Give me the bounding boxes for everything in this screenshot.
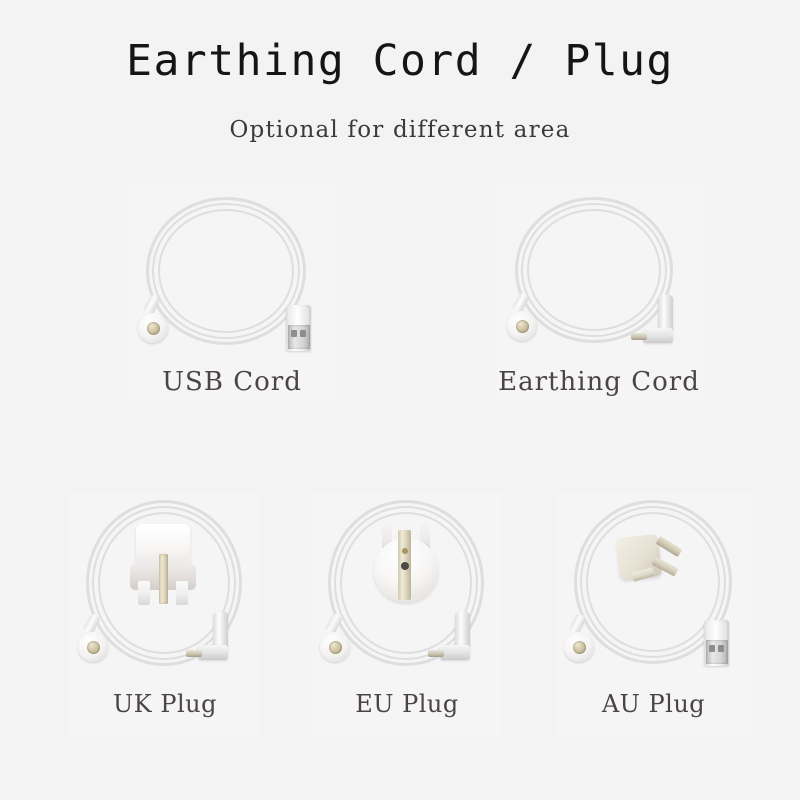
product-au-plug[interactable]: AU Plug (556, 492, 751, 737)
product-label-earthing-cord: Earthing Cord (495, 367, 703, 397)
snap-stud-icon (320, 632, 350, 662)
snap-stud-icon (78, 632, 108, 662)
product-label-au-plug: AU Plug (556, 690, 751, 718)
product-label-uk-plug: UK Plug (70, 690, 260, 718)
product-eu-plug[interactable]: EU Plug (312, 492, 502, 737)
uk-plug-photo: UK Plug (70, 492, 260, 737)
right-angle-connector-icon (186, 612, 232, 662)
right-angle-connector-icon (428, 612, 474, 662)
product-earthing-cord[interactable]: Earthing Cord (495, 185, 703, 400)
snap-stud-icon (507, 311, 537, 341)
product-uk-plug[interactable]: UK Plug (70, 492, 260, 737)
product-usb-cord[interactable]: USB Cord (128, 185, 336, 400)
right-angle-connector-icon (631, 295, 677, 345)
earthing-cord-photo: Earthing Cord (495, 185, 703, 400)
product-image-page: Earthing Cord / Plug Optional for differ… (0, 0, 800, 800)
page-title: Earthing Cord / Plug (0, 36, 800, 86)
snap-stud-icon (138, 313, 168, 343)
au-plug-photo: AU Plug (556, 492, 751, 737)
uk-plug-icon (130, 524, 196, 608)
au-plug-icon (618, 530, 690, 594)
eu-plug-photo: EU Plug (312, 492, 502, 737)
page-subtitle: Optional for different area (0, 117, 800, 143)
product-label-eu-plug: EU Plug (312, 690, 502, 718)
snap-stud-icon (564, 632, 594, 662)
usb-a-connector-icon (704, 620, 729, 666)
eu-plug-icon (370, 524, 442, 604)
usb-a-connector-icon (286, 305, 311, 351)
product-label-usb-cord: USB Cord (128, 367, 336, 397)
usb-cord-photo: USB Cord (128, 185, 336, 400)
